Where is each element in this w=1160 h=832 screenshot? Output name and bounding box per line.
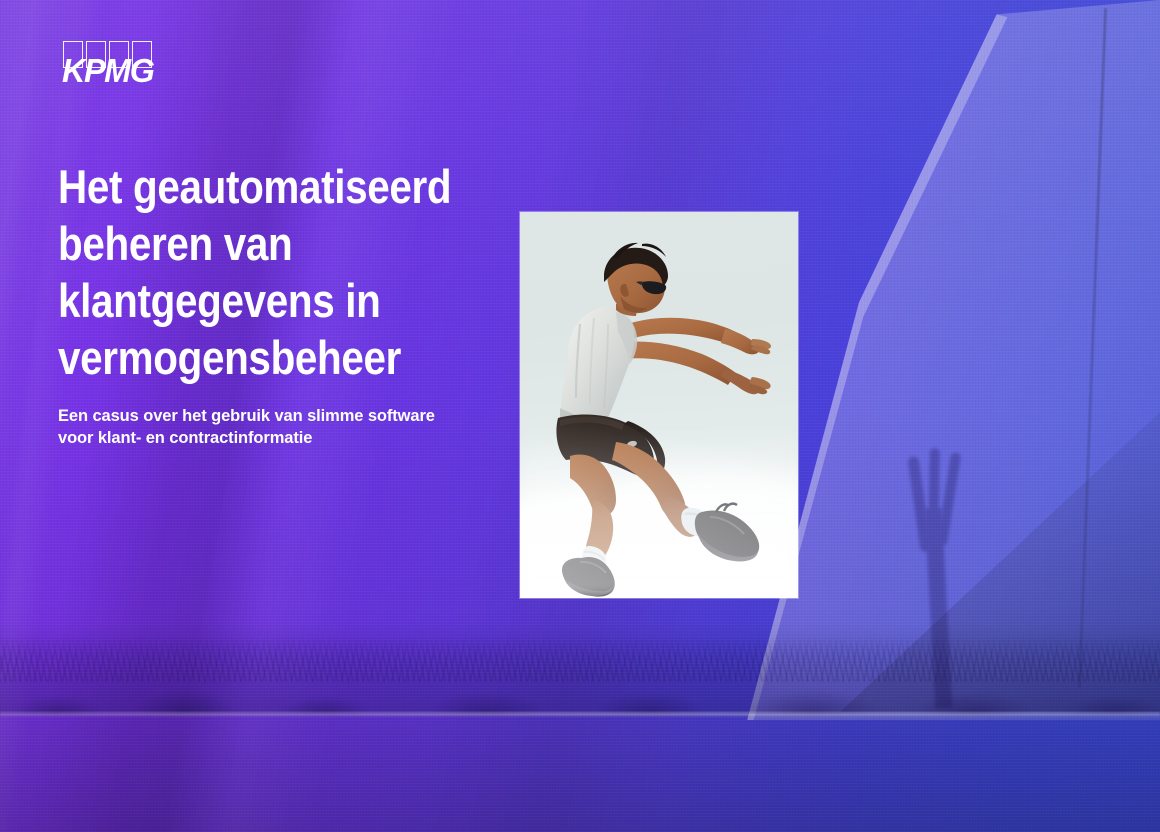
cover-headline: Het geautomatiseerd beheren van klantgeg… <box>58 158 454 386</box>
cover-page: KPMG Het geautomatiseerd beheren van kla… <box>0 0 1160 832</box>
photo-haze <box>520 420 798 598</box>
kpmg-logo[interactable]: KPMG <box>62 41 166 89</box>
cover-subtitle: Een casus over het gebruik van slimme so… <box>58 405 528 449</box>
kpmg-logo-wordmark: KPMG <box>62 54 154 87</box>
hero-photo <box>520 212 798 598</box>
